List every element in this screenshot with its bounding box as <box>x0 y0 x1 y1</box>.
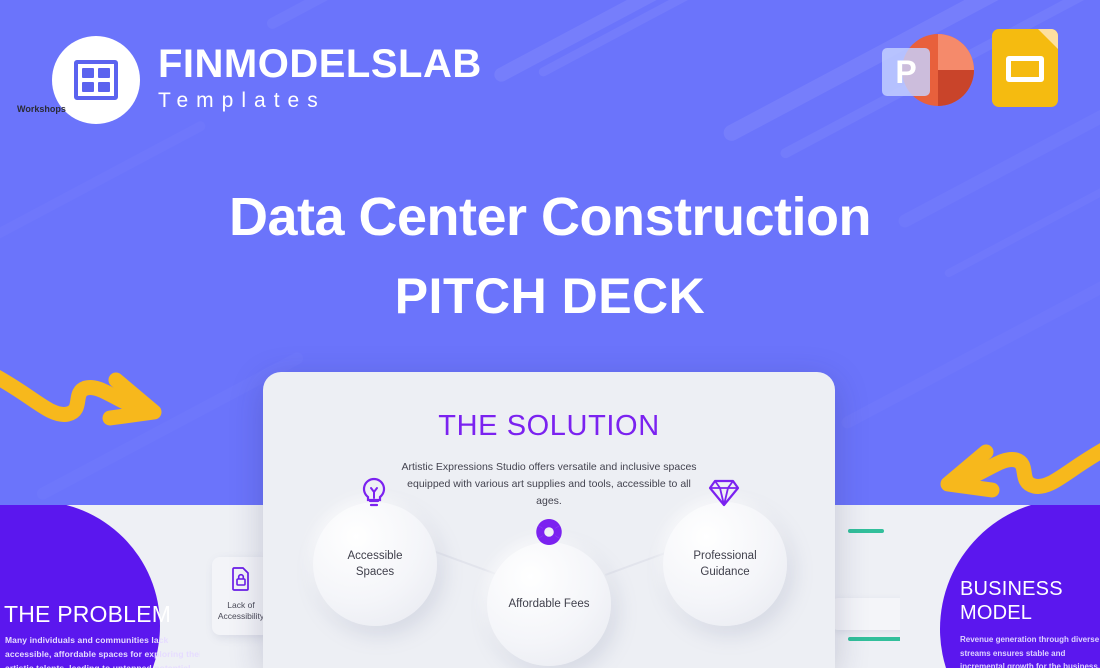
problem-body: Many individuals and communities lack ac… <box>5 633 200 668</box>
diamond-icon <box>707 476 741 510</box>
solution-bubbles: Accessible Spaces Affordable Fees <box>263 500 835 668</box>
powerpoint-icon[interactable]: P <box>878 22 974 114</box>
pitch-deck-preview: FINMODELSLAB Templates P Data Center Con… <box>0 0 1100 668</box>
business-body: Revenue generation through diverse strea… <box>960 633 1100 668</box>
pie-chart-icon <box>532 515 566 549</box>
lightbulb-icon <box>357 476 391 510</box>
bubble-label-line-1: Accessible <box>348 548 403 564</box>
brush-stroke <box>492 0 878 84</box>
format-icons: P <box>878 22 1058 114</box>
brand-subtitle: Templates <box>158 85 482 117</box>
business-title-line-2: MODEL <box>960 601 1063 625</box>
lack-of-accessibility-card[interactable]: Lack of Accessibility <box>212 557 270 635</box>
bubble-connector <box>433 550 499 576</box>
bubble-affordable-fees[interactable]: Affordable Fees <box>487 542 611 666</box>
bubble-label-line-1: Affordable Fees <box>509 596 590 612</box>
squiggly-arrow-right-icon <box>0 352 178 432</box>
brush-stroke <box>839 242 1100 431</box>
business-title-line-1: BUSINESS <box>960 577 1063 601</box>
problem-title: THE PROBLEM <box>4 601 171 628</box>
squiggly-arrow-left-icon <box>924 424 1100 504</box>
page-title: Data Center Construction PITCH DECK <box>0 186 1100 326</box>
title-line-2: PITCH DECK <box>0 266 1100 326</box>
slide-problem[interactable]: THE PROBLEM Many individuals and communi… <box>0 505 200 668</box>
chart-bar <box>848 529 884 533</box>
bubble-label-line-2: Spaces <box>348 564 403 580</box>
brush-stroke <box>265 0 535 31</box>
brush-stroke <box>943 149 1100 278</box>
solution-title: THE SOLUTION <box>263 410 835 443</box>
bubble-label-line-2: Guidance <box>693 564 756 580</box>
brand-name: FINMODELSLAB <box>158 44 482 85</box>
slide-solution[interactable]: THE SOLUTION Artistic Expressions Studio… <box>263 372 835 668</box>
bubble-connector <box>605 550 671 576</box>
powerpoint-letter: P <box>895 56 916 88</box>
locked-document-icon <box>231 567 251 591</box>
bubble-label-line-1: Professional <box>693 548 756 564</box>
google-slides-icon[interactable] <box>992 29 1058 107</box>
brand-logo[interactable]: FINMODELSLAB Templates <box>52 36 482 124</box>
bubble-accessible-spaces[interactable]: Accessible Spaces <box>313 502 437 626</box>
lack-of-accessibility-label: Lack of Accessibility <box>212 600 270 623</box>
brush-stroke <box>537 0 833 78</box>
title-line-1: Data Center Construction <box>0 186 1100 250</box>
slide-business-model[interactable]: BUSINESS MODEL Revenue generation throug… <box>900 505 1100 668</box>
brush-stroke <box>0 120 207 251</box>
workshops-label: Workshops <box>17 104 66 114</box>
bubble-professional-guidance[interactable]: Professional Guidance <box>663 502 787 626</box>
brand-logo-text: FINMODELSLAB Templates <box>158 44 482 116</box>
business-title: BUSINESS MODEL <box>960 577 1063 626</box>
